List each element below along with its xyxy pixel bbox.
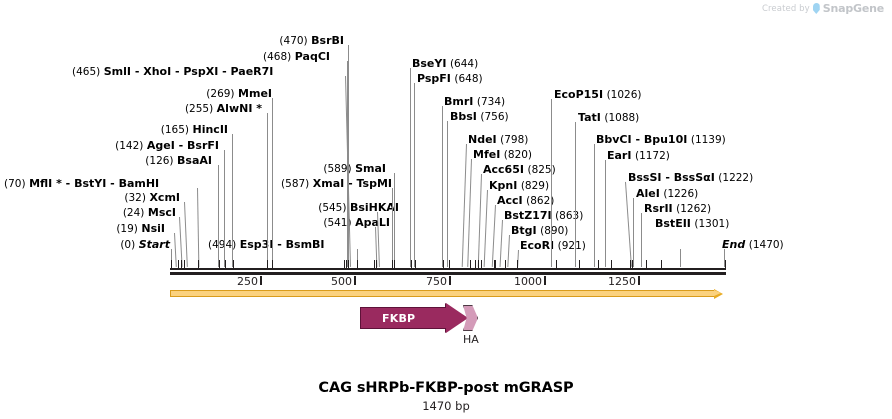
enzyme-name: SmlI - XhoI - PspXI - PaeR7I: [104, 65, 274, 78]
enzyme-name: BstEII: [655, 217, 691, 230]
enzyme-pos: (1262): [676, 203, 711, 215]
enzyme-label-alwni[interactable]: (255) AlwNI *: [0, 103, 262, 115]
leader-line: [462, 144, 467, 267]
snapgene-logo-icon: [813, 3, 820, 14]
enzyme-label-acci[interactable]: AccI (862): [497, 195, 554, 207]
enzyme-label-alei[interactable]: AleI (1226): [636, 188, 698, 200]
enzyme-name: MmeI: [238, 87, 272, 100]
leader-line: [484, 190, 488, 267]
ruler-tick-1000: [544, 276, 546, 285]
cut-site-tick: [517, 260, 518, 268]
page-title: CAG sHRPb-FKBP-post mGRASP: [0, 380, 892, 396]
enzyme-label-smai[interactable]: (589) SmaI: [0, 163, 386, 175]
enzyme-name: ApaLI: [355, 216, 390, 229]
leader-line: [447, 121, 448, 267]
enzyme-label-eari[interactable]: EarI (1172): [607, 150, 670, 162]
enzyme-pos: (468): [263, 51, 291, 63]
enzyme-label-ecori[interactable]: EcoRI (921): [520, 240, 586, 252]
enzyme-label-apali[interactable]: (541) ApaLI: [0, 217, 390, 229]
enzyme-pos: (165): [161, 124, 189, 136]
leader-line: [392, 188, 393, 267]
enzyme-name: PaqCI: [295, 50, 330, 63]
leader-line: [507, 235, 510, 267]
cut-site-tick: [632, 260, 633, 268]
orf-arrow-body[interactable]: [170, 290, 715, 297]
leader-line: [272, 98, 273, 267]
cut-site-tick: [411, 260, 412, 268]
enzyme-pos: (1026): [607, 89, 642, 101]
enzyme-label-btgi[interactable]: BtgI (890): [511, 225, 568, 237]
enzyme-name: HincII: [192, 123, 228, 136]
enzyme-label-acc65i[interactable]: Acc65I (825): [483, 164, 556, 176]
ruler-label-1250: 1250: [585, 275, 636, 288]
ruler-label-250: 250: [214, 275, 258, 288]
ruler-tick-750: [449, 276, 451, 285]
enzyme-name: BstZ17I: [504, 209, 552, 222]
cut-site-tick: [475, 260, 476, 268]
enzyme-name: BssSI - BssSαI: [628, 171, 715, 184]
cut-site-tick: [394, 260, 395, 268]
enzyme-pos: (648): [454, 73, 482, 85]
leader-line: [641, 213, 642, 267]
enzyme-name: EcoP15I: [554, 88, 603, 101]
enzyme-pos: (756): [480, 111, 508, 123]
page-subtitle: 1470 bp: [0, 399, 892, 413]
leader-line: [478, 174, 482, 267]
enzyme-label-smli-xhoi-pspxi-paer7i[interactable]: (465) SmlI - XhoI - PspXI - PaeR7I: [72, 66, 273, 78]
enzyme-name: Esp3I - BsmBI: [240, 238, 325, 251]
leader-line: [232, 134, 233, 267]
leader-line: [394, 173, 395, 267]
sequence-line-upper: [170, 268, 726, 270]
leader-line: [348, 45, 349, 267]
enzyme-name: BsrBI: [311, 34, 344, 47]
enzyme-label-pspfi[interactable]: PspFI (648): [417, 73, 483, 85]
enzyme-pos: (1470): [749, 239, 784, 251]
cut-site-tick: [267, 260, 268, 268]
ruler-label-750: 750: [403, 275, 447, 288]
enzyme-pos: (470): [279, 35, 307, 47]
leader-line: [625, 182, 632, 267]
enzyme-label-xmai-tspmi[interactable]: (587) XmaI - TspMI: [0, 178, 392, 190]
leader-line: [218, 165, 219, 267]
enzyme-pos: (142): [115, 140, 143, 152]
cut-site-tick: [233, 260, 234, 268]
enzyme-name: TatI: [578, 111, 601, 124]
enzyme-pos: (1222): [718, 172, 753, 184]
enzyme-name: Acc65I: [483, 163, 524, 176]
enzyme-label-bsssi-bsssai[interactable]: BssSI - BssSαI (1222): [628, 172, 753, 184]
enzyme-pos: (255): [185, 103, 213, 115]
enzyme-pos: (798): [500, 134, 528, 146]
leader-line: [414, 83, 415, 267]
enzyme-name: End: [722, 238, 745, 251]
enzyme-name: EcoRI: [520, 239, 554, 252]
cut-site-tick: [357, 260, 358, 268]
cut-site-tick: [661, 260, 662, 268]
cut-site-tick: [478, 260, 479, 268]
ruler-tick-1250: [638, 276, 640, 285]
enzyme-name: RsrII: [644, 202, 673, 215]
leader-line: [594, 144, 595, 267]
enzyme-label-bstz17i[interactable]: BstZ17I (863): [504, 210, 583, 222]
enzyme-label-agei-bsrfi[interactable]: (142) AgeI - BsrFI: [0, 140, 219, 152]
cut-site-tick: [225, 260, 226, 268]
snapgene-watermark: Created by SnapGene: [762, 2, 884, 15]
enzyme-name: BbvCI - Bpu10I: [596, 133, 687, 146]
cut-site-tick: [178, 260, 179, 268]
cut-site-tick: [598, 260, 599, 268]
enzyme-label-mfei[interactable]: MfeI (820): [473, 149, 532, 161]
cut-site-tick: [171, 260, 172, 268]
enzyme-name: XmaI - TspMI: [313, 177, 392, 190]
leader-line: [500, 220, 503, 267]
enzyme-pos: (0): [120, 239, 135, 251]
enzyme-pos: (269): [206, 88, 234, 100]
enzyme-pos: (890): [540, 225, 568, 237]
leader-line: [492, 205, 496, 267]
enzyme-name: AleI: [636, 187, 660, 200]
cut-site-tick: [346, 260, 347, 268]
cut-site-tick: [181, 260, 182, 268]
enzyme-pos: (1301): [694, 218, 729, 230]
leader-line: [410, 68, 411, 267]
leader-line: [633, 198, 634, 267]
cut-site-tick: [556, 260, 557, 268]
cut-site-tick: [198, 260, 199, 268]
cut-site-tick: [630, 260, 631, 268]
enzyme-label-paqci[interactable]: (468) PaqCI: [0, 51, 330, 63]
enzyme-label-kpni[interactable]: KpnI (829): [489, 180, 549, 192]
leader-line: [551, 99, 552, 267]
cut-site-tick: [272, 260, 273, 268]
cut-site-tick: [579, 260, 580, 268]
cut-site-tick: [725, 260, 726, 268]
watermark-created-by: Created by: [762, 4, 810, 14]
enzyme-pos: (1172): [635, 150, 670, 162]
watermark-brand: SnapGene: [823, 2, 884, 15]
enzyme-name: PspFI: [417, 72, 451, 85]
cut-site-tick: [374, 260, 375, 268]
cut-site-tick: [392, 260, 393, 268]
enzyme-pos: (465): [72, 66, 100, 78]
enzyme-label-mmei[interactable]: (269) MmeI: [0, 88, 272, 100]
enzyme-name: AgeI - BsrFI: [147, 139, 219, 152]
enzyme-pos: (734): [477, 96, 505, 108]
enzyme-label-bstEii[interactable]: BstEII (1301): [655, 218, 729, 230]
enzyme-label-ndei[interactable]: NdeI (798): [468, 134, 528, 146]
enzyme-label-bmri[interactable]: BmrI (734): [444, 96, 505, 108]
enzyme-name: AccI: [497, 194, 523, 207]
enzyme-pos: (545): [318, 202, 346, 214]
enzyme-pos: (644): [450, 58, 478, 70]
enzyme-label-bsrbi[interactable]: (470) BsrBI: [0, 35, 344, 47]
ruler-tick-250: [260, 276, 262, 285]
enzyme-pos: (829): [521, 180, 549, 192]
enzyme-name: BtgI: [511, 224, 537, 237]
enzyme-name: Start: [139, 238, 170, 251]
enzyme-name: EarI: [607, 149, 631, 162]
cut-site-tick: [470, 260, 471, 268]
cut-site-tick: [184, 260, 185, 268]
enzyme-name: KpnI: [489, 179, 517, 192]
enzyme-name: MfeI: [473, 148, 500, 161]
ruler-label-500: 500: [308, 275, 352, 288]
enzyme-pos: (863): [555, 210, 583, 222]
ruler-label-1000: 1000: [491, 275, 542, 288]
enzyme-pos: (820): [504, 149, 532, 161]
enzyme-label-bbvci-bpu10i[interactable]: BbvCI - Bpu10I (1139): [596, 134, 726, 146]
enzyme-name: BbsI: [450, 110, 477, 123]
enzyme-name: NdeI: [468, 133, 497, 146]
cut-site-tick: [646, 260, 647, 268]
cut-site-tick: [611, 260, 612, 268]
enzyme-label-bsihkai[interactable]: (545) BsiHKAI: [0, 202, 399, 214]
leader-line: [467, 159, 472, 267]
enzyme-label-bseyi[interactable]: BseYI (644): [412, 58, 478, 70]
enzyme-name: SmaI: [355, 162, 386, 175]
cut-site-tick: [505, 260, 506, 268]
cut-site-tick: [449, 260, 450, 268]
cut-site-tick: [495, 260, 496, 268]
enzyme-label-ecop15i[interactable]: EcoP15I (1026): [554, 89, 641, 101]
leader-line: [267, 113, 268, 267]
enzyme-pos: (1226): [663, 188, 698, 200]
cut-site-tick: [219, 260, 220, 268]
enzyme-name: BmrI: [444, 95, 473, 108]
leader-line: [174, 233, 177, 267]
cut-site-tick: [443, 260, 444, 268]
leader-line: [442, 106, 443, 267]
enzyme-pos: (587): [281, 178, 309, 190]
enzyme-name: AlwNI *: [217, 102, 262, 115]
ruler-tick-500: [354, 276, 356, 285]
orf-arrow-head-fill: [714, 290, 721, 296]
enzyme-label-end[interactable]: End (1470): [722, 239, 784, 251]
leader-line: [224, 150, 225, 267]
feature-label-fkbp: FKBP: [382, 312, 415, 325]
cut-site-tick: [481, 260, 482, 268]
enzyme-label-bbsi[interactable]: BbsI (756): [450, 111, 509, 123]
cut-site-tick: [415, 260, 416, 268]
enzyme-label-hincii[interactable]: (165) HincII: [0, 124, 228, 136]
enzyme-label-tati[interactable]: TatI (1088): [578, 112, 639, 124]
cut-site-tick: [348, 260, 349, 268]
enzyme-label-rsrii[interactable]: RsrII (1262): [644, 203, 711, 215]
leader-line: [680, 249, 681, 267]
cut-site-tick: [344, 260, 345, 268]
enzyme-pos: (1088): [604, 112, 639, 124]
sequence-map-canvas: Created by SnapGene (0) Start (19) NsiI …: [0, 0, 892, 419]
enzyme-label-start[interactable]: (0) Start: [0, 239, 170, 251]
enzyme-pos: (921): [558, 240, 586, 252]
feature-label-ha: HA: [463, 333, 479, 346]
leader-line: [605, 160, 606, 267]
enzyme-pos: (1139): [691, 134, 726, 146]
leader-line: [575, 122, 576, 267]
cut-site-tick: [376, 260, 377, 268]
enzyme-name: BseYI: [412, 57, 446, 70]
